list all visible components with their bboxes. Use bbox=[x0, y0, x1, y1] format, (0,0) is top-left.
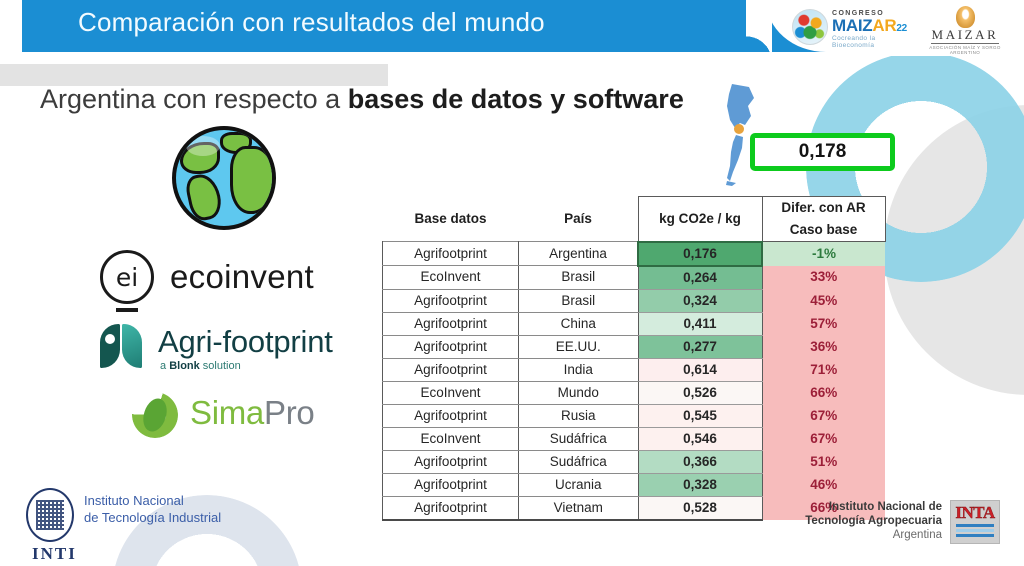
inti-acronym: INTI bbox=[32, 544, 77, 564]
cell-pais: Rusia bbox=[519, 404, 639, 427]
cell-difer-con-ar: 36% bbox=[762, 335, 885, 358]
cell-pais: Ucrania bbox=[519, 473, 639, 496]
cell-kg-co2e: 0,328 bbox=[638, 473, 762, 496]
comparison-table: Base datos País kg CO2e / kg Difer. con … bbox=[382, 196, 886, 521]
cell-difer-con-ar: 67% bbox=[762, 427, 885, 450]
cell-base-datos: Agrifootprint bbox=[383, 404, 519, 427]
inta-name-line2: Tecnología Agropecuaria bbox=[805, 514, 942, 528]
cell-base-datos: Agrifootprint bbox=[383, 289, 519, 312]
cell-difer-con-ar: 67% bbox=[762, 404, 885, 427]
cell-kg-co2e: 0,264 bbox=[638, 266, 762, 290]
simapro-wordmark: SimaPro bbox=[190, 394, 314, 432]
corn-cob-icon bbox=[956, 6, 975, 28]
congreso-year-text: 22 bbox=[896, 23, 907, 34]
cell-kg-co2e: 0,614 bbox=[638, 358, 762, 381]
inta-name-line1: Instituto Nacional de bbox=[805, 500, 942, 514]
cell-pais: Sudáfrica bbox=[519, 427, 639, 450]
inta-name: Instituto Nacional de Tecnología Agropec… bbox=[805, 500, 942, 542]
inta-badge-icon: INTA bbox=[950, 500, 1000, 544]
simapro-word-sima: Sima bbox=[190, 394, 264, 431]
column-header-pais: País bbox=[519, 197, 639, 242]
cell-difer-con-ar: 33% bbox=[762, 266, 885, 290]
banner-underline bbox=[0, 52, 1024, 56]
table-row[interactable]: EcoInventMundo0,52666% bbox=[383, 381, 886, 404]
table-row[interactable]: AgrifootprintSudáfrica0,36651% bbox=[383, 450, 886, 473]
maizar-logo-name: MAIZAR bbox=[928, 27, 1002, 43]
cell-pais: China bbox=[519, 312, 639, 335]
page-title-emphasis: bases de datos y software bbox=[348, 84, 684, 114]
agri-tagline-brand: Blonk bbox=[169, 360, 200, 372]
cell-base-datos: Agrifootprint bbox=[383, 450, 519, 473]
ecoinvent-mark-icon: ei bbox=[100, 250, 154, 304]
cell-kg-co2e: 0,277 bbox=[638, 335, 762, 358]
simapro-logo: SimaPro bbox=[132, 392, 362, 442]
congreso-maiz-text: MAIZ bbox=[832, 16, 872, 35]
cell-difer-con-ar: 46% bbox=[762, 473, 885, 496]
cell-kg-co2e: 0,176 bbox=[638, 242, 762, 266]
ecoinvent-logo: ei ecoinvent bbox=[100, 250, 350, 306]
cell-base-datos: Agrifootprint bbox=[383, 358, 519, 381]
cell-pais: Vietnam bbox=[519, 496, 639, 520]
earth-globe-icon bbox=[172, 126, 276, 230]
inta-stripe bbox=[956, 524, 994, 527]
maizar-logo-subtitle: ASOCIACIÓN MAÍZ Y SORGO ARGENTINO bbox=[928, 45, 1002, 55]
comparison-table-wrapper: Base datos País kg CO2e / kg Difer. con … bbox=[382, 196, 886, 521]
cell-kg-co2e: 0,528 bbox=[638, 496, 762, 520]
table-row[interactable]: AgrifootprintChina0,41157% bbox=[383, 312, 886, 335]
congreso-maizar-logo: CONGRESO MAIZAR22 Cocreando la Bioeconom… bbox=[792, 5, 912, 47]
table-row[interactable]: AgrifootprintUcrania0,32846% bbox=[383, 473, 886, 496]
inti-seal-icon bbox=[26, 488, 74, 542]
cell-kg-co2e: 0,545 bbox=[638, 404, 762, 427]
banner-left-edge bbox=[0, 0, 22, 52]
table-row[interactable]: EcoInventSudáfrica0,54667% bbox=[383, 427, 886, 450]
cell-base-datos: Agrifootprint bbox=[383, 312, 519, 335]
column-header-base-datos: Base datos bbox=[383, 197, 519, 242]
agri-leaf-left bbox=[100, 324, 120, 368]
gray-accent-bar bbox=[0, 64, 388, 86]
column-header-difer-line1: Difer. con AR bbox=[763, 197, 885, 219]
inta-stripe bbox=[956, 534, 994, 537]
congreso-ar-text: AR bbox=[872, 16, 896, 35]
simapro-word-pro: Pro bbox=[264, 394, 314, 431]
page-title-prefix: Argentina con respecto a bbox=[40, 84, 348, 114]
cell-pais: EE.UU. bbox=[519, 335, 639, 358]
table-row[interactable]: AgrifootprintArgentina0,176-1% bbox=[383, 242, 886, 266]
table-row[interactable]: AgrifootprintBrasil0,32445% bbox=[383, 289, 886, 312]
cell-kg-co2e: 0,366 bbox=[638, 450, 762, 473]
multicolor-globe-ball-icon bbox=[792, 9, 828, 45]
cell-difer-con-ar: -1% bbox=[762, 242, 885, 266]
column-header-difer: Difer. con AR Caso base bbox=[762, 197, 885, 242]
ecoinvent-wordmark: ecoinvent bbox=[170, 258, 314, 296]
inti-name: Instituto Nacional de Tecnología Industr… bbox=[84, 492, 221, 526]
banner-title: Comparación con resultados del mundo bbox=[78, 7, 545, 38]
cell-kg-co2e: 0,546 bbox=[638, 427, 762, 450]
cell-kg-co2e: 0,324 bbox=[638, 289, 762, 312]
globe-landmass bbox=[184, 171, 225, 223]
globe-gloss bbox=[186, 136, 220, 156]
table-row[interactable]: AgrifootprintEE.UU.0,27736% bbox=[383, 335, 886, 358]
table-row[interactable]: AgrifootprintRusia0,54567% bbox=[383, 404, 886, 427]
agri-leaf-hole bbox=[105, 334, 115, 344]
ecoinvent-underline-icon bbox=[116, 308, 138, 312]
highlight-value-box: 0,178 bbox=[750, 133, 895, 171]
agri-tagline-post: solution bbox=[200, 360, 241, 372]
column-header-kg-co2e: kg CO2e / kg bbox=[638, 197, 762, 242]
inta-acronym: INTA bbox=[953, 503, 997, 522]
table-body: AgrifootprintArgentina0,176-1%EcoInventB… bbox=[383, 242, 886, 520]
cell-pais: Sudáfrica bbox=[519, 450, 639, 473]
table-row[interactable]: EcoInventBrasil0,26433% bbox=[383, 266, 886, 290]
table-row[interactable]: AgrifootprintIndia0,61471% bbox=[383, 358, 886, 381]
agri-leaf-right bbox=[122, 324, 142, 368]
inta-stripe bbox=[956, 529, 994, 532]
cell-pais: India bbox=[519, 358, 639, 381]
congreso-logo-line3: Cocreando la Bioeconomía bbox=[832, 35, 912, 49]
cell-difer-con-ar: 71% bbox=[762, 358, 885, 381]
cell-pais: Argentina bbox=[519, 242, 639, 266]
cell-base-datos: EcoInvent bbox=[383, 427, 519, 450]
table-head: Base datos País kg CO2e / kg Difer. con … bbox=[383, 197, 886, 242]
cell-difer-con-ar: 51% bbox=[762, 450, 885, 473]
congreso-logo-line2: MAIZAR22 bbox=[832, 17, 907, 37]
cell-base-datos: Agrifootprint bbox=[383, 242, 519, 266]
cell-base-datos: Agrifootprint bbox=[383, 473, 519, 496]
inti-seal-grid bbox=[36, 500, 64, 530]
column-header-difer-line2: Caso base bbox=[763, 219, 885, 241]
maizar-logo: MAIZAR ASOCIACIÓN MAÍZ Y SORGO ARGENTINO bbox=[928, 6, 1002, 46]
agri-footprint-mark-icon bbox=[100, 324, 144, 368]
cell-base-datos: Agrifootprint bbox=[383, 496, 519, 520]
agri-footprint-tagline: a Blonk solution bbox=[160, 360, 241, 372]
agri-footprint-wordmark: Agri-footprint bbox=[158, 324, 333, 360]
inti-name-line1: Instituto Nacional bbox=[84, 492, 221, 509]
cell-base-datos: Agrifootprint bbox=[383, 335, 519, 358]
cell-pais: Mundo bbox=[519, 381, 639, 404]
cell-pais: Brasil bbox=[519, 266, 639, 290]
agri-footprint-logo: Agri-footprint a Blonk solution bbox=[100, 322, 360, 380]
cell-difer-con-ar: 66% bbox=[762, 381, 885, 404]
cell-difer-con-ar: 45% bbox=[762, 289, 885, 312]
cell-pais: Brasil bbox=[519, 289, 639, 312]
globe-landmass bbox=[230, 146, 276, 214]
cell-base-datos: EcoInvent bbox=[383, 381, 519, 404]
agri-tagline-pre: a bbox=[160, 360, 169, 372]
page-title: Argentina con respecto a bases de datos … bbox=[40, 84, 684, 115]
cell-kg-co2e: 0,526 bbox=[638, 381, 762, 404]
maizar-logo-rule bbox=[931, 43, 999, 44]
inta-name-line3: Argentina bbox=[805, 528, 942, 542]
cell-base-datos: EcoInvent bbox=[383, 266, 519, 290]
highlight-value: 0,178 bbox=[755, 138, 890, 166]
inti-footer-logo: INTI Instituto Nacional de Tecnología In… bbox=[26, 488, 266, 558]
inta-footer-logo: Instituto Nacional de Tecnología Agropec… bbox=[784, 500, 1000, 556]
table-header-row: Base datos País kg CO2e / kg Difer. con … bbox=[383, 197, 886, 242]
slide: Comparación con resultados del mundo CON… bbox=[0, 0, 1024, 566]
cell-difer-con-ar: 57% bbox=[762, 312, 885, 335]
cell-kg-co2e: 0,411 bbox=[638, 312, 762, 335]
inti-name-line2: de Tecnología Industrial bbox=[84, 509, 221, 526]
